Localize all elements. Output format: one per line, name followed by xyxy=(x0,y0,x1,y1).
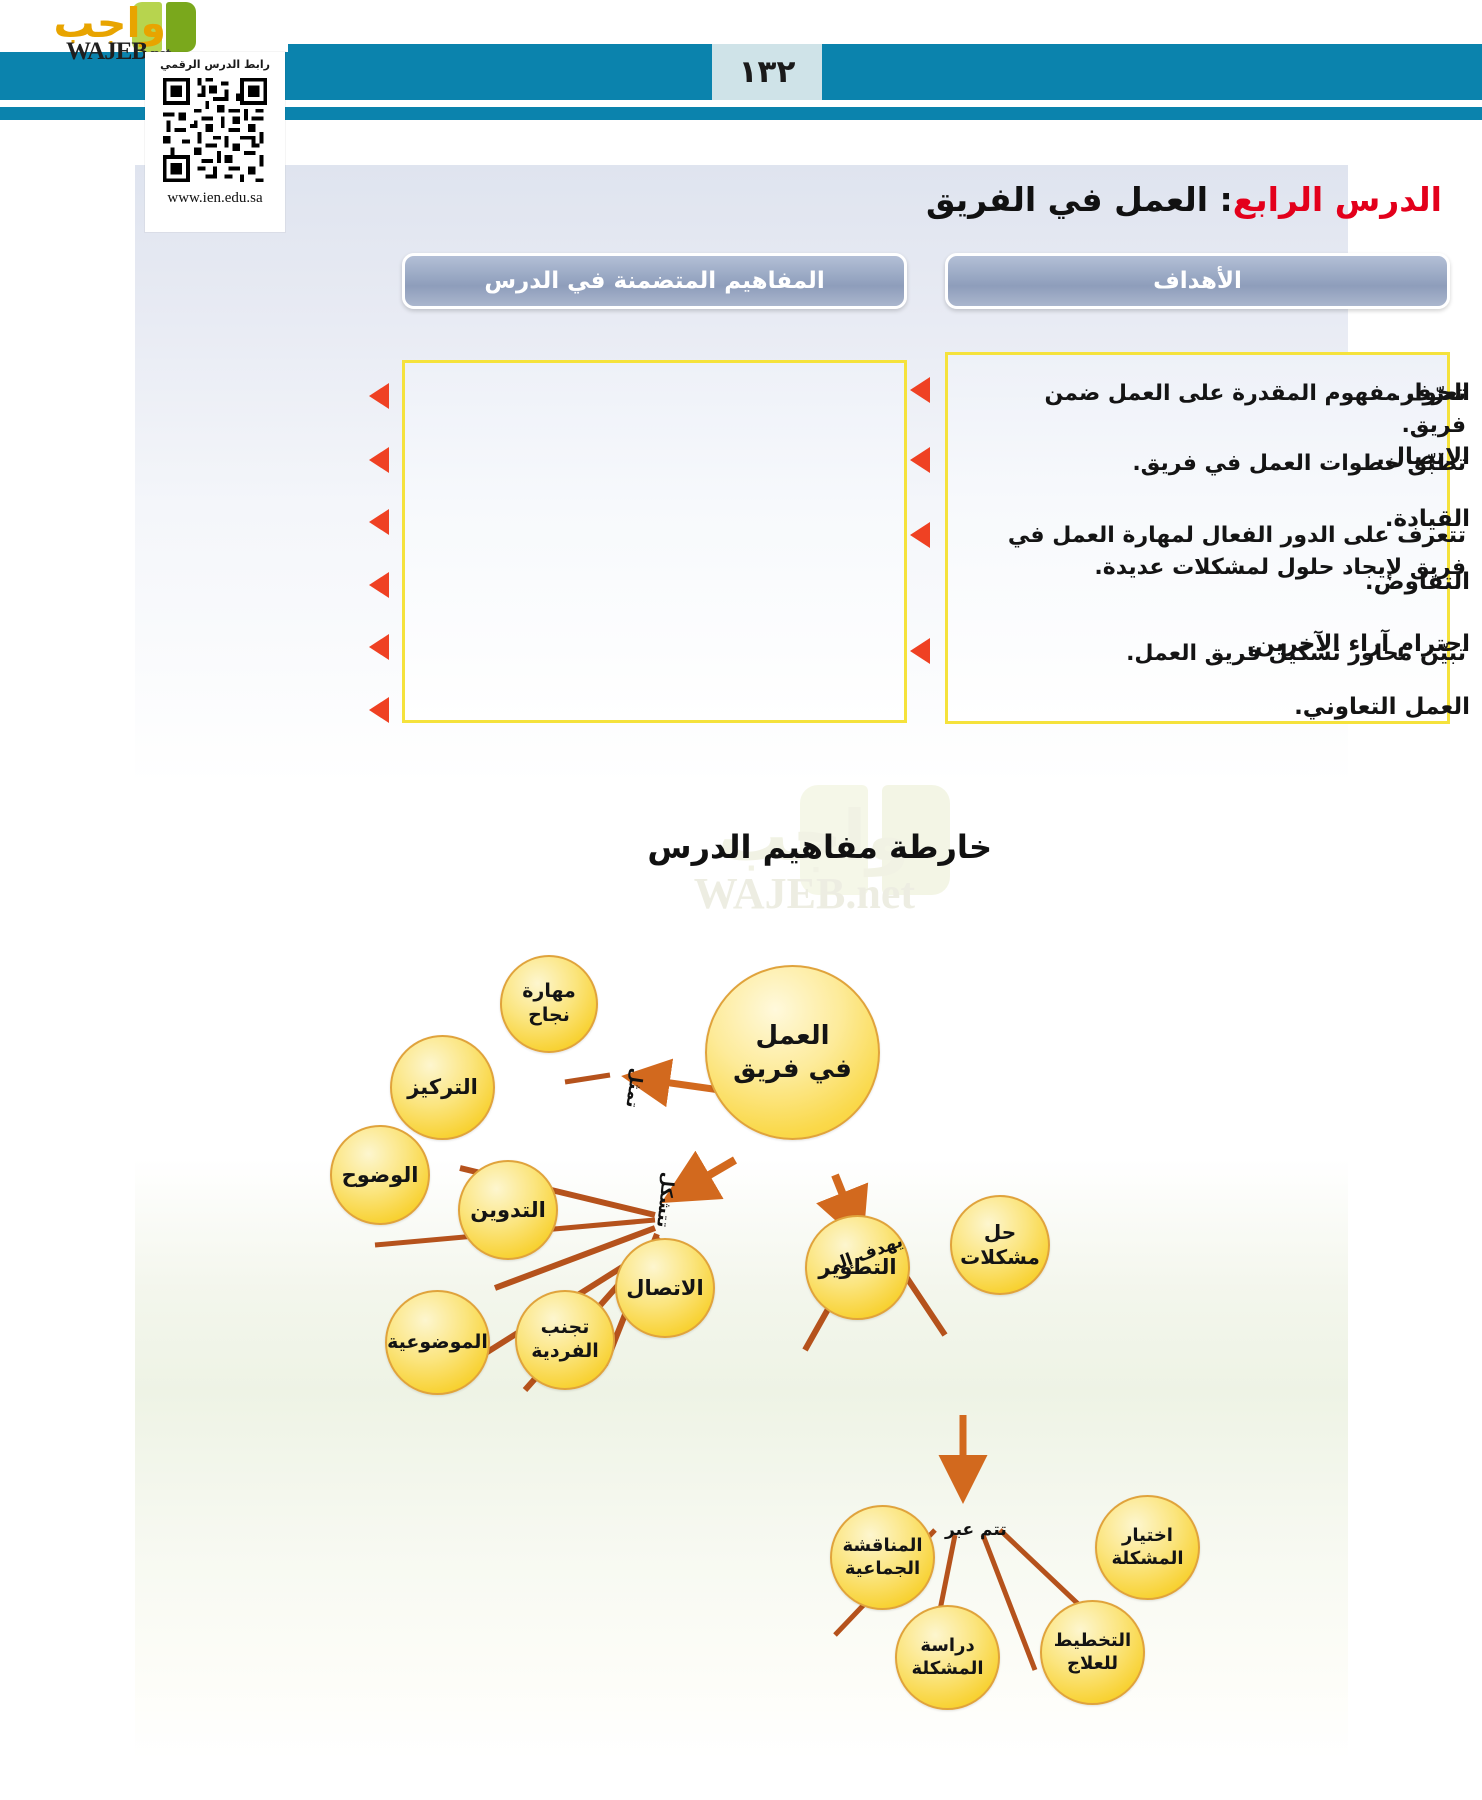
node-focus[interactable]: التركيز xyxy=(390,1035,495,1140)
lesson-number-label: الدرس الرابع xyxy=(1233,180,1442,219)
qr-code-icon xyxy=(159,74,271,186)
node-problem-study-line2: المشكلة xyxy=(911,1658,983,1681)
bullet-arrow-icon xyxy=(369,509,389,535)
concepts-header: المفاهيم المتضمنة في الدرس xyxy=(402,253,907,309)
concept-item: العمل التعاوني. xyxy=(1012,694,1470,720)
node-center[interactable]: العمل في فريق xyxy=(705,965,880,1140)
node-avoid-line2: الفردية xyxy=(531,1340,599,1364)
site-logo-block: واجب WAJEB.net رابط الدرس الرقمي xyxy=(0,0,288,240)
concept-item: احترام آراء الآخرين. xyxy=(1012,631,1470,657)
node-skill-success-line2: نجاح xyxy=(528,1004,570,1028)
node-treatment-planning-line1: التخطيط xyxy=(1054,1630,1131,1653)
node-problem-selection[interactable]: اختيار المشكلة xyxy=(1095,1495,1200,1600)
node-center-line1: العمل xyxy=(756,1020,830,1053)
bullet-arrow-icon xyxy=(910,447,930,473)
bullet-arrow-icon xyxy=(910,638,930,664)
node-problem-solving-line2: مشكلات xyxy=(960,1245,1040,1270)
bullet-arrow-icon xyxy=(369,383,389,409)
node-problem-study[interactable]: دراسة المشكلة xyxy=(895,1605,1000,1710)
concept-map-title: خارطة مفاهيم الدرس xyxy=(647,828,992,866)
bullet-arrow-icon xyxy=(910,522,930,548)
node-treatment-planning[interactable]: التخطيط للعلاج xyxy=(1040,1600,1145,1705)
concepts-box xyxy=(402,360,907,723)
node-problem-selection-line2: المشكلة xyxy=(1111,1548,1183,1571)
node-treatment-planning-line2: للعلاج xyxy=(1067,1653,1118,1676)
bullet-arrow-icon xyxy=(369,447,389,473)
digital-lesson-qr-card[interactable]: رابط الدرس الرقمي xyxy=(145,52,285,232)
concept-item: التفاوض. xyxy=(1012,569,1470,595)
node-avoid-individualism[interactable]: تجنب الفردية xyxy=(515,1290,615,1390)
node-problem-solving-line1: حل xyxy=(984,1220,1016,1245)
node-center-line2: في فريق xyxy=(733,1053,852,1086)
concept-item: الحوار. xyxy=(1012,380,1470,406)
node-objectivity[interactable]: الموضوعية xyxy=(385,1290,490,1395)
node-problem-solving[interactable]: حل مشكلات xyxy=(950,1195,1050,1295)
node-group-discussion-line2: الجماعية xyxy=(845,1558,920,1581)
page-title: الدرس الرابع: العمل في الفريق xyxy=(926,180,1442,219)
node-clarity[interactable]: الوضوح xyxy=(330,1125,430,1225)
bullet-arrow-icon xyxy=(369,634,389,660)
page-number: ١٣٢ xyxy=(712,44,822,100)
concept-item: القيادة. xyxy=(1012,506,1470,532)
node-problem-study-line1: دراسة xyxy=(920,1635,974,1658)
bullet-arrow-icon xyxy=(369,697,389,723)
edge-center-to-hub xyxy=(675,1160,735,1195)
node-group-discussion-line1: المناقشة xyxy=(842,1535,922,1558)
node-communication[interactable]: الاتصال xyxy=(615,1238,715,1338)
edge-skill-stub xyxy=(565,1075,610,1082)
concept-map-edges xyxy=(135,790,1348,1760)
node-skill-success-line1: مهارة xyxy=(522,980,576,1004)
node-skill-success[interactable]: مهارة نجاح xyxy=(500,955,598,1053)
logo-latin-main: WAJEB xyxy=(66,38,147,65)
bullet-arrow-icon xyxy=(910,377,930,403)
qr-caption: رابط الدرس الرقمي xyxy=(160,58,270,71)
objectives-header: الأهداف xyxy=(945,253,1450,309)
lesson-name-label: : العمل في الفريق xyxy=(926,180,1233,219)
node-notetaking[interactable]: التدوين xyxy=(458,1160,558,1260)
bullet-arrow-icon xyxy=(369,572,389,598)
node-group-discussion[interactable]: المناقشة الجماعية xyxy=(830,1505,935,1610)
node-avoid-line1: تجنب xyxy=(541,1316,590,1340)
edge-center-to-skill xyxy=(635,1078,720,1090)
concept-item: الاتصال. xyxy=(1012,444,1470,470)
edge-label-bottom: تتم عبر xyxy=(945,1520,1007,1540)
node-problem-selection-line1: اختيار xyxy=(1122,1525,1173,1548)
qr-url[interactable]: www.ien.edu.sa xyxy=(167,190,262,207)
